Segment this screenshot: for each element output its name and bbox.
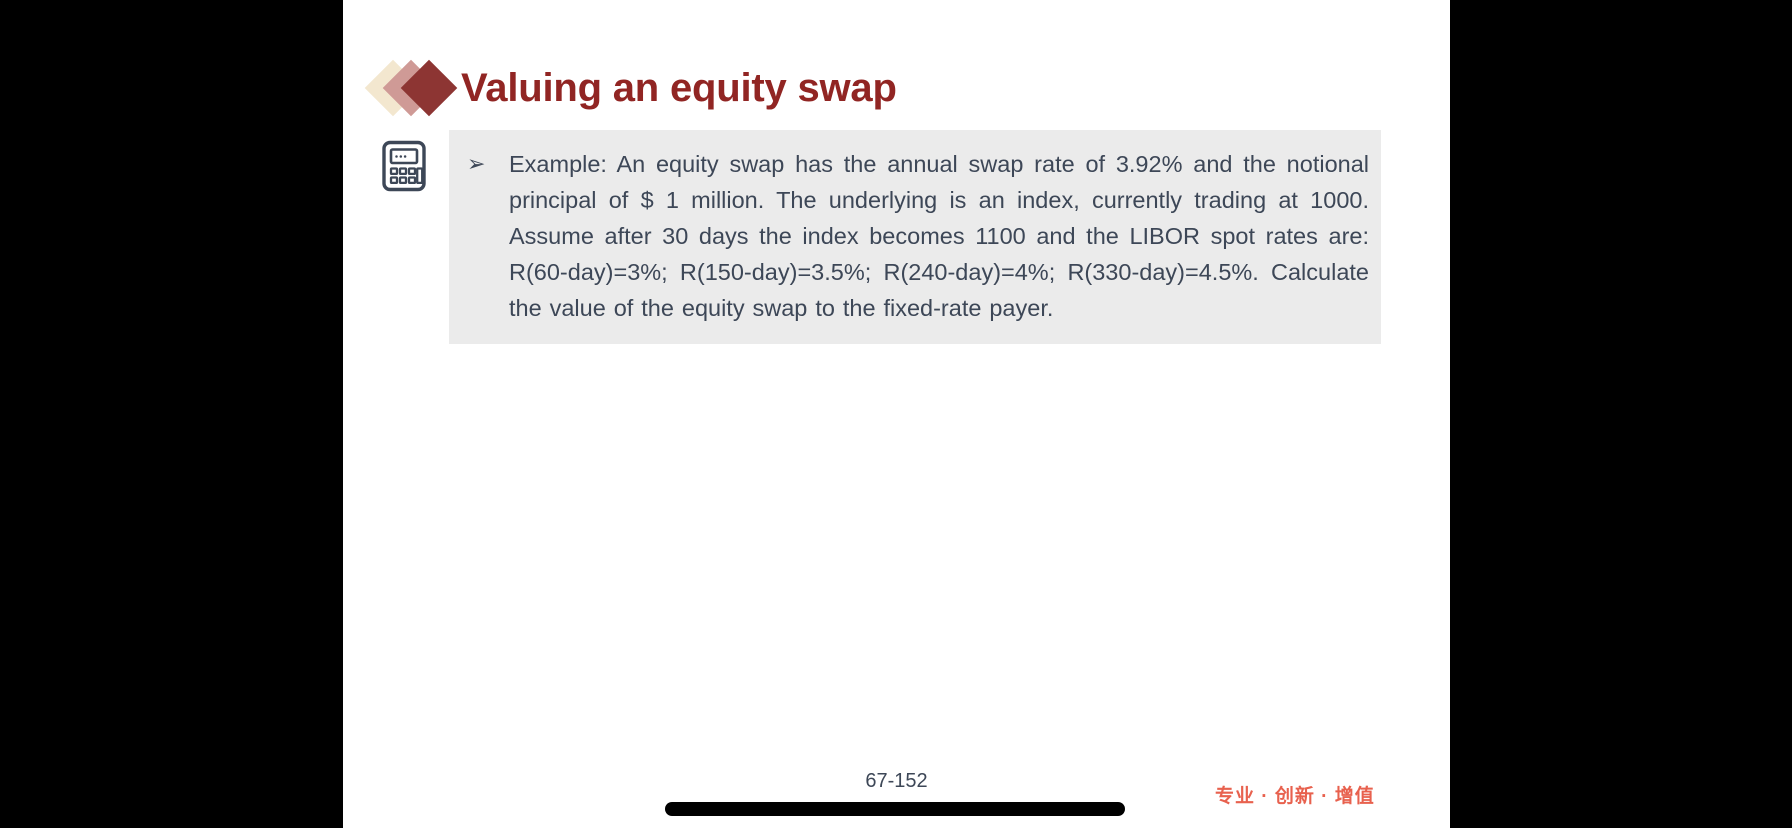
slide-canvas: Valuing an equity swap: [343, 0, 1450, 828]
example-textbox: ➢ Example: An equity swap has the annual…: [449, 130, 1381, 344]
progress-bar-fill: [665, 802, 1125, 816]
progress-bar[interactable]: [665, 802, 1125, 816]
brand-slogan: 专业 · 创新 · 增值: [1215, 781, 1375, 808]
slide-viewer: Valuing an equity swap: [0, 0, 1792, 828]
calculator-icon: [381, 140, 427, 192]
example-text: Example: An equity swap has the annual s…: [509, 146, 1369, 326]
slide-title-row: Valuing an equity swap: [373, 57, 897, 119]
diamond-marker-icon: [373, 60, 459, 116]
arrow-bullet-icon: ➢: [461, 146, 509, 182]
example-paragraph: ➢ Example: An equity swap has the annual…: [461, 146, 1369, 326]
page-title: Valuing an equity swap: [461, 68, 897, 108]
